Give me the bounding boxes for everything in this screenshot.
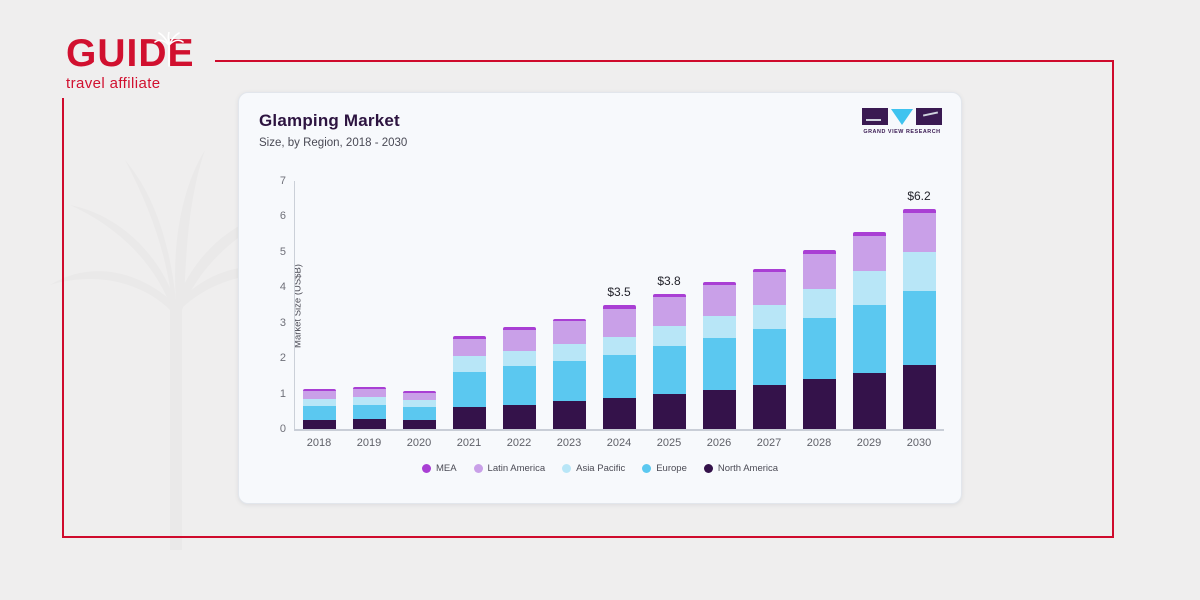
- bar-stack[interactable]: [353, 387, 386, 429]
- bar-stack[interactable]: [903, 209, 936, 429]
- y-axis-tick: 2: [280, 352, 286, 364]
- bar-column[interactable]: $3.5: [594, 181, 644, 429]
- x-axis-label: 2029: [844, 437, 894, 449]
- legend-label: North America: [718, 463, 778, 474]
- gvr-triangle-icon: [891, 109, 913, 125]
- legend-color-dot: [642, 464, 651, 473]
- bar-segment[interactable]: [603, 337, 636, 355]
- bar-stack[interactable]: [553, 319, 586, 429]
- x-axis-label: 2018: [294, 437, 344, 449]
- bar-segment[interactable]: [753, 272, 786, 305]
- bar-column[interactable]: [494, 181, 544, 429]
- chart-subtitle: Size, by Region, 2018 - 2030: [259, 137, 407, 149]
- gvr-left-rect-icon: [862, 108, 888, 125]
- bar-column[interactable]: [344, 181, 394, 429]
- bar-segment[interactable]: [903, 291, 936, 365]
- bar-segment[interactable]: [403, 393, 436, 400]
- bar-segment[interactable]: [653, 297, 686, 326]
- x-axis-label: 2019: [344, 437, 394, 449]
- bar-segment[interactable]: [353, 419, 386, 429]
- decorative-frame-left-edge: [62, 60, 64, 538]
- bar-segment[interactable]: [903, 365, 936, 429]
- bar-segment[interactable]: [653, 326, 686, 345]
- bar-segment[interactable]: [803, 318, 836, 379]
- bar-column[interactable]: $6.2: [894, 181, 944, 429]
- y-axis-tick: 0: [280, 423, 286, 435]
- legend-color-dot: [422, 464, 431, 473]
- bar-segment[interactable]: [903, 213, 936, 252]
- x-axis-label: 2027: [744, 437, 794, 449]
- bar-value-label: $6.2: [907, 189, 930, 203]
- x-axis-label: 2025: [644, 437, 694, 449]
- legend-color-dot: [704, 464, 713, 473]
- bar-column[interactable]: [394, 181, 444, 429]
- gvr-right-rect-icon: [916, 108, 942, 125]
- palm-tree-icon: [154, 32, 184, 68]
- legend-item[interactable]: Latin America: [474, 463, 546, 474]
- bar-column[interactable]: $3.8: [644, 181, 694, 429]
- bar-segment[interactable]: [703, 316, 736, 338]
- bar-segment[interactable]: [353, 405, 386, 420]
- bar-value-label: $3.5: [607, 285, 630, 299]
- bar-segment[interactable]: [703, 390, 736, 429]
- x-axis-label: 2028: [794, 437, 844, 449]
- x-axis-label: 2020: [394, 437, 444, 449]
- bar-stack[interactable]: [753, 269, 786, 429]
- bar-segment[interactable]: [453, 339, 486, 357]
- legend-label: Europe: [656, 463, 687, 474]
- bar-stack[interactable]: [653, 294, 686, 429]
- legend-label: MEA: [436, 463, 457, 474]
- legend-item[interactable]: Asia Pacific: [562, 463, 625, 474]
- bar-segment[interactable]: [653, 346, 686, 395]
- x-axis-label: 2030: [894, 437, 944, 449]
- y-axis-tick: 7: [280, 175, 286, 187]
- bar-segment[interactable]: [453, 372, 486, 407]
- bar-segment[interactable]: [853, 236, 886, 271]
- chart-legend: MEALatin AmericaAsia PacificEuropeNorth …: [239, 463, 961, 474]
- x-axis-label: 2024: [594, 437, 644, 449]
- bar-segment[interactable]: [803, 254, 836, 289]
- bar-segment[interactable]: [453, 407, 486, 429]
- bar-stack[interactable]: [453, 336, 486, 429]
- bar-column[interactable]: [794, 181, 844, 429]
- bar-stack[interactable]: [503, 327, 536, 429]
- x-axis-label: 2021: [444, 437, 494, 449]
- y-axis-tick: 1: [280, 388, 286, 400]
- grand-view-research-logo: GRAND VIEW RESEARCH: [861, 107, 943, 141]
- bar-segment[interactable]: [753, 385, 786, 429]
- gvr-logo-marks: [861, 107, 943, 126]
- x-axis-line: [294, 429, 944, 431]
- bar-segment[interactable]: [803, 289, 836, 318]
- legend-color-dot: [474, 464, 483, 473]
- bar-segment[interactable]: [303, 391, 336, 399]
- bar-column[interactable]: [444, 181, 494, 429]
- bar-segment[interactable]: [453, 356, 486, 371]
- bar-segment[interactable]: [853, 271, 886, 305]
- bar-segment[interactable]: [403, 407, 436, 420]
- bar-stack[interactable]: [853, 232, 886, 429]
- bar-column[interactable]: [544, 181, 594, 429]
- bar-segment[interactable]: [553, 321, 586, 344]
- x-axis-label: 2026: [694, 437, 744, 449]
- bar-column[interactable]: [844, 181, 894, 429]
- bar-series-group: $3.5$3.8$6.2: [294, 181, 944, 429]
- bar-segment[interactable]: [753, 305, 786, 330]
- bar-segment[interactable]: [303, 420, 336, 429]
- x-axis-label: 2023: [544, 437, 594, 449]
- bar-segment[interactable]: [553, 361, 586, 402]
- chart-card: Glamping Market Size, by Region, 2018 - …: [238, 92, 962, 504]
- gvr-logo-text: GRAND VIEW RESEARCH: [861, 129, 943, 135]
- bar-segment[interactable]: [353, 389, 386, 397]
- bar-segment[interactable]: [703, 338, 736, 390]
- legend-label: Latin America: [488, 463, 546, 474]
- bar-segment[interactable]: [803, 379, 836, 429]
- bar-segment[interactable]: [703, 285, 736, 316]
- bar-segment[interactable]: [603, 355, 636, 398]
- bar-segment[interactable]: [503, 405, 536, 429]
- bar-stack[interactable]: [403, 391, 436, 429]
- y-axis-tick: 3: [280, 317, 286, 329]
- bar-segment[interactable]: [553, 344, 586, 361]
- bar-segment[interactable]: [853, 373, 886, 429]
- bar-segment[interactable]: [403, 420, 436, 429]
- y-axis-tick: 6: [280, 210, 286, 222]
- brand-wordmark-row: GUIDE: [66, 34, 216, 74]
- bar-segment[interactable]: [303, 399, 336, 406]
- bar-segment[interactable]: [753, 329, 786, 385]
- bar-column[interactable]: [744, 181, 794, 429]
- bar-value-label: $3.8: [657, 274, 680, 288]
- bar-column[interactable]: [694, 181, 744, 429]
- bar-stack[interactable]: [703, 282, 736, 429]
- bar-segment[interactable]: [853, 305, 886, 373]
- brand-tagline: travel affiliate: [66, 75, 216, 92]
- bar-stack[interactable]: [303, 389, 336, 429]
- x-axis-labels: 2018201920202021202220232024202520262027…: [294, 437, 944, 449]
- bar-column[interactable]: [294, 181, 344, 429]
- brand-logo: GUIDE travel affiliate: [66, 34, 216, 100]
- bar-stack[interactable]: [603, 305, 636, 429]
- plot-area: Market Size (US$B) 76543210 $3.5$3.8$6.2: [294, 181, 944, 431]
- bar-segment[interactable]: [553, 401, 586, 429]
- y-axis-tick: 5: [280, 246, 286, 258]
- legend-label: Asia Pacific: [576, 463, 625, 474]
- x-axis-label: 2022: [494, 437, 544, 449]
- bar-segment[interactable]: [353, 397, 386, 404]
- bar-stack[interactable]: [803, 250, 836, 429]
- bar-segment[interactable]: [503, 366, 536, 405]
- bar-segment[interactable]: [403, 400, 436, 407]
- bar-segment[interactable]: [503, 330, 536, 351]
- legend-item[interactable]: Europe: [642, 463, 687, 474]
- bar-segment[interactable]: [603, 398, 636, 429]
- legend-color-dot: [562, 464, 571, 473]
- bar-segment[interactable]: [303, 406, 336, 420]
- bar-segment[interactable]: [603, 309, 636, 337]
- y-axis-tick: 4: [280, 281, 286, 293]
- bar-segment[interactable]: [653, 394, 686, 429]
- bar-segment[interactable]: [903, 252, 936, 291]
- legend-item[interactable]: MEA: [422, 463, 457, 474]
- chart-title: Glamping Market: [259, 111, 400, 131]
- legend-item[interactable]: North America: [704, 463, 778, 474]
- bar-segment[interactable]: [503, 351, 536, 366]
